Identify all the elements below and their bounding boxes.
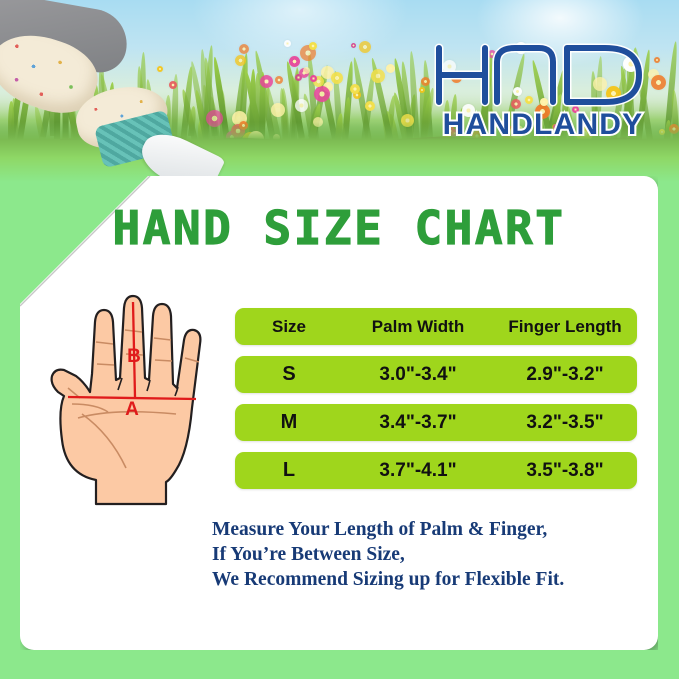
column-header-size: Size bbox=[235, 317, 343, 337]
table-header-row: Size Palm Width Finger Length bbox=[235, 308, 637, 345]
cell-size: L bbox=[235, 459, 343, 482]
cell-palm-width: 3.7"-4.1" bbox=[343, 460, 493, 482]
table-row: S 3.0"-3.4" 2.9"-3.2" bbox=[235, 356, 637, 393]
instruction-line-3: We Recommend Sizing up for Flexible Fit. bbox=[212, 567, 642, 592]
hand-size-chart-page: HANDLANDY HAND SIZE CHART bbox=[0, 0, 679, 679]
handlandy-logo: HANDLANDY bbox=[433, 40, 653, 140]
page-title: HAND SIZE CHART bbox=[20, 200, 658, 256]
cell-palm-width: 3.0"-3.4" bbox=[343, 364, 493, 386]
size-table: Size Palm Width Finger Length S 3.0"-3.4… bbox=[235, 308, 637, 489]
table-row: L 3.7"-4.1" 3.5"-3.8" bbox=[235, 452, 637, 489]
instruction-line-2: If You’re Between Size, bbox=[212, 542, 642, 567]
cell-finger-length: 3.5"-3.8" bbox=[493, 460, 637, 482]
table-row: M 3.4"-3.7" 3.2"-3.5" bbox=[235, 404, 637, 441]
cell-finger-length: 2.9"-3.2" bbox=[493, 364, 637, 386]
page-title-text: HAND SIZE CHART bbox=[113, 201, 566, 255]
cell-finger-length: 3.2"-3.5" bbox=[493, 412, 637, 434]
marker-b-label: B bbox=[127, 346, 141, 367]
cell-size: M bbox=[235, 411, 343, 434]
cell-size: S bbox=[235, 363, 343, 386]
column-header-palm-width: Palm Width bbox=[343, 317, 493, 337]
sizing-instructions: Measure Your Length of Palm & Finger, If… bbox=[212, 517, 642, 592]
logo-wordmark: HANDLANDY bbox=[443, 108, 644, 140]
marker-a-label: A bbox=[125, 399, 139, 420]
cell-palm-width: 3.4"-3.7" bbox=[343, 412, 493, 434]
column-header-finger-length: Finger Length bbox=[493, 317, 637, 337]
instruction-line-1: Measure Your Length of Palm & Finger, bbox=[212, 517, 642, 542]
hand-measurement-diagram: B A bbox=[36, 292, 226, 507]
gardener-figure bbox=[0, 0, 230, 182]
